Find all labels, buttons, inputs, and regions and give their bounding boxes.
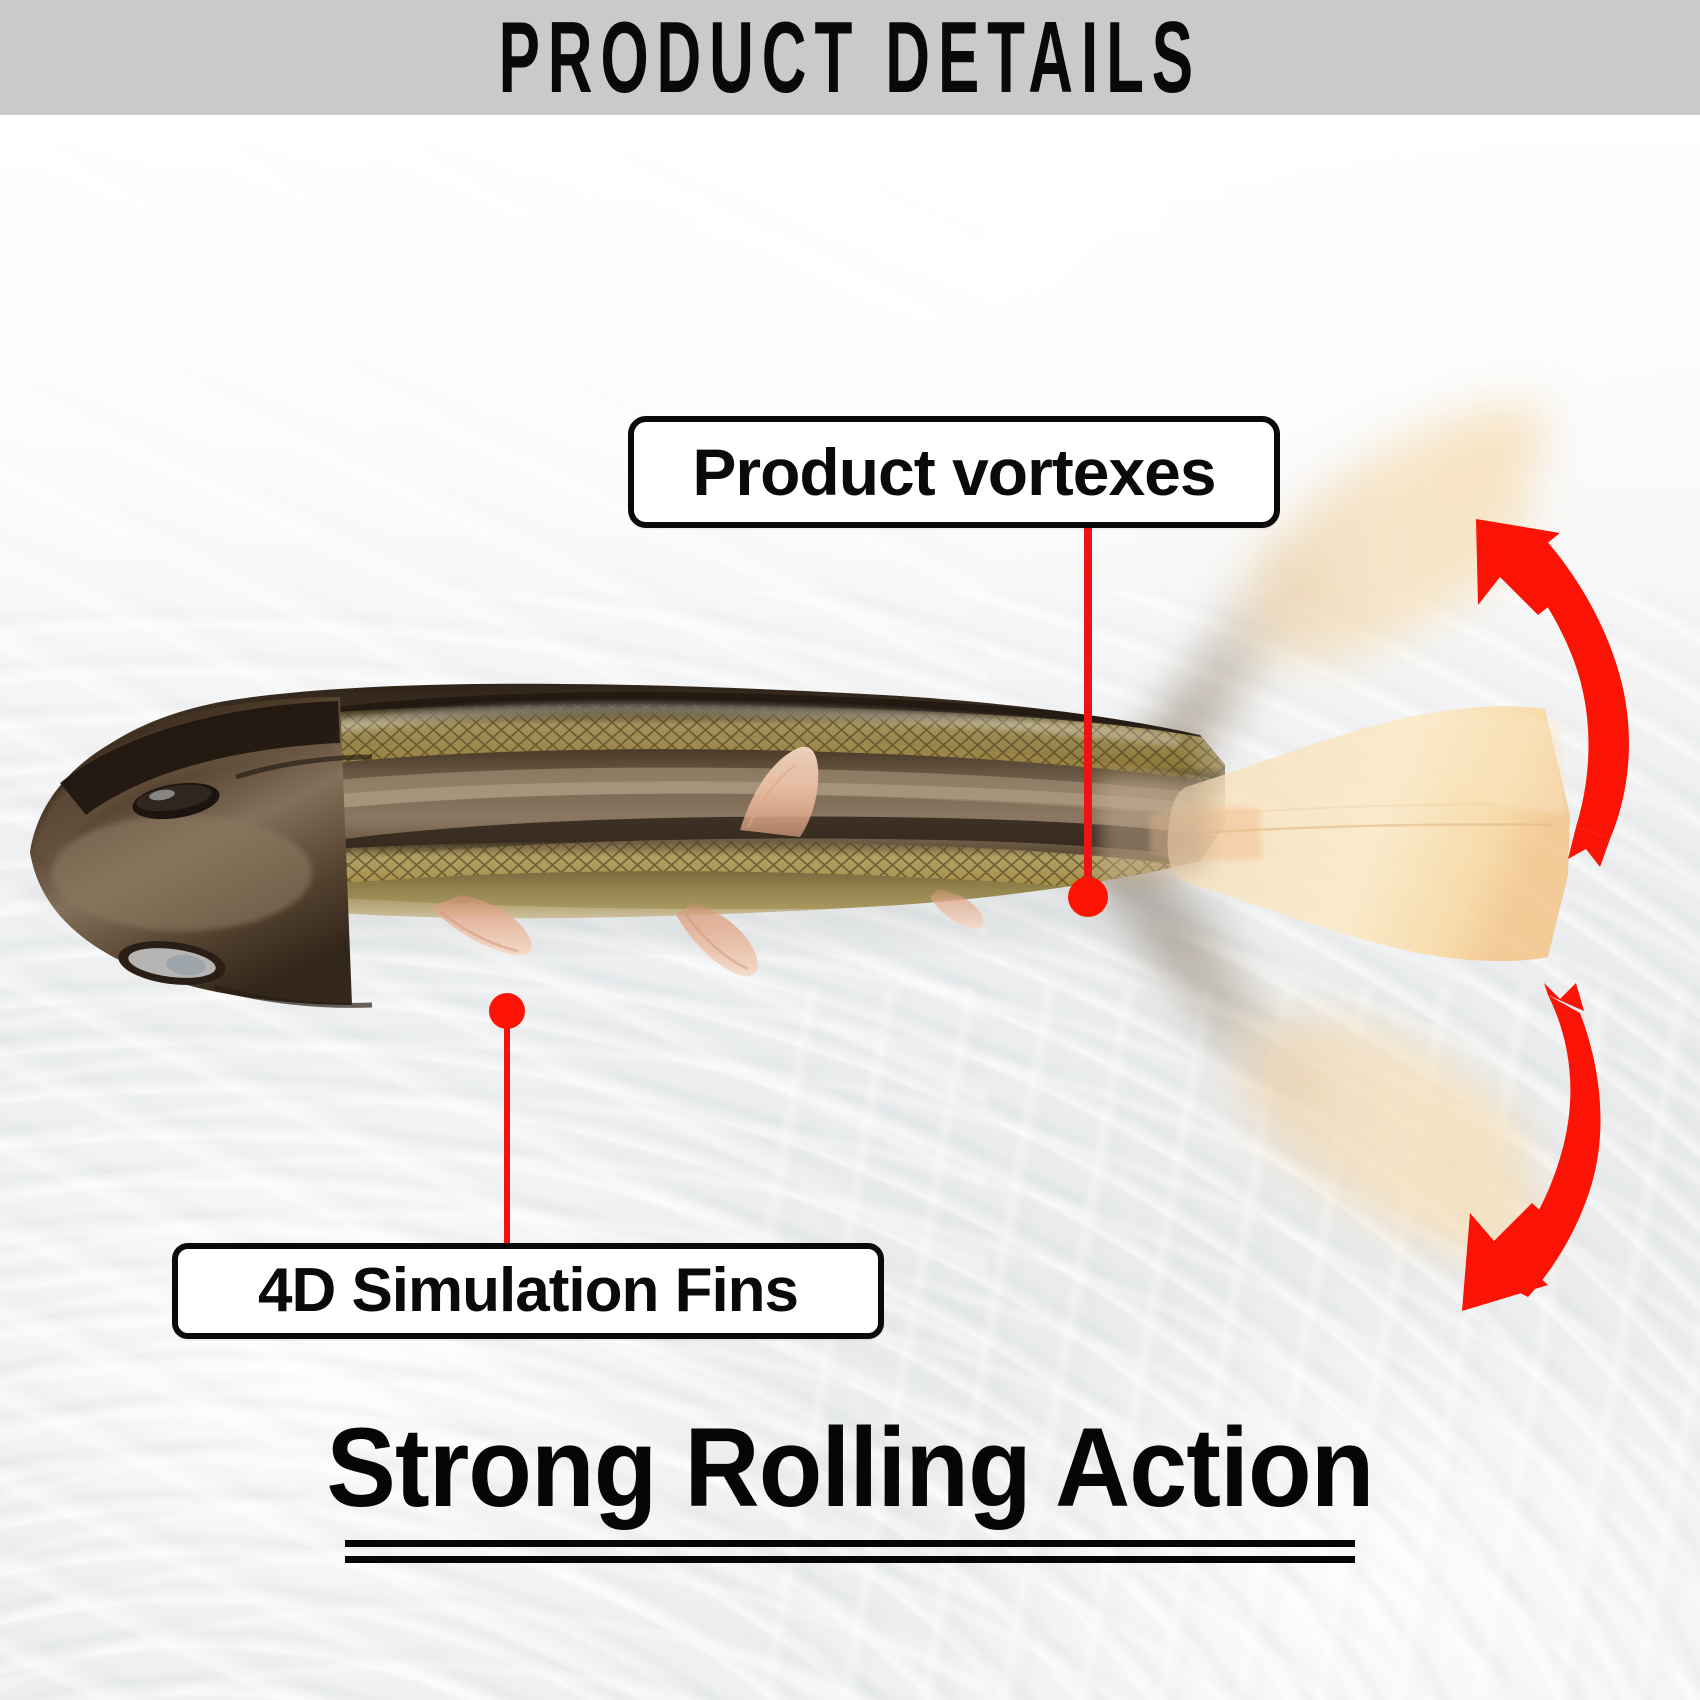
callout-product-vortexes[interactable]: Product vortexes bbox=[628, 416, 1280, 528]
headline-text: Strong Rolling Action bbox=[326, 1410, 1373, 1526]
page-title: PRODUCT DETAILS bbox=[499, 7, 1201, 108]
header-banner: PRODUCT DETAILS bbox=[0, 0, 1700, 115]
leader-dot-fins bbox=[489, 993, 525, 1029]
leader-dot-vortexes bbox=[1068, 877, 1108, 917]
product-scene: Product vortexes 4D Simulation Fins Stro… bbox=[0, 115, 1700, 1700]
leader-line-fins bbox=[504, 1013, 510, 1245]
arrow-down-icon bbox=[1462, 983, 1601, 1311]
headline-block: Strong Rolling Action bbox=[0, 1410, 1700, 1563]
headline-underline bbox=[345, 1540, 1355, 1563]
headline-rule-2 bbox=[345, 1556, 1355, 1563]
arrow-up-icon bbox=[1476, 519, 1629, 867]
callout-4d-simulation-fins-label: 4D Simulation Fins bbox=[258, 1260, 798, 1322]
callout-product-vortexes-label: Product vortexes bbox=[692, 439, 1215, 505]
leader-line-vortexes bbox=[1084, 526, 1092, 898]
headline-rule-1 bbox=[345, 1540, 1355, 1547]
callout-4d-simulation-fins[interactable]: 4D Simulation Fins bbox=[172, 1243, 884, 1339]
